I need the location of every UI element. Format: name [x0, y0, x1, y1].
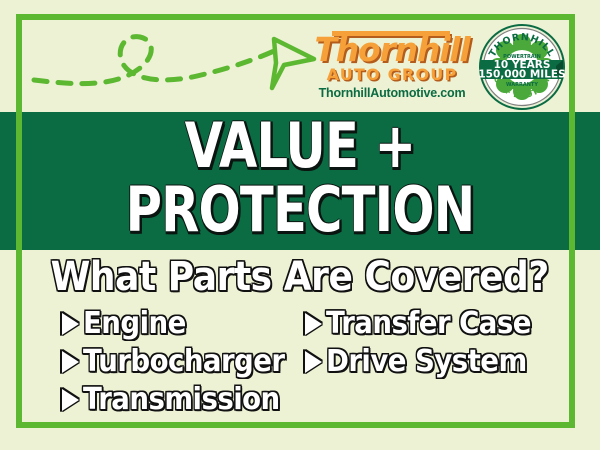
- part-label: Transfer Case: [326, 308, 531, 340]
- covered-parts-left-column: Engine Turbocharger Transmission: [62, 305, 312, 419]
- seal-warranty-word: WARRANTY: [506, 82, 538, 88]
- logo-wordmark: Thornhill: [312, 33, 472, 67]
- part-label: Drive System: [326, 346, 527, 378]
- triangle-bullet-icon: [62, 313, 79, 335]
- triangle-bullet-icon: [305, 351, 322, 373]
- covered-parts-right-column: Transfer Case Drive System: [305, 305, 555, 381]
- headline-line-2: PROTECTION: [60, 177, 540, 243]
- list-item: Turbocharger: [62, 343, 312, 381]
- triangle-bullet-icon: [62, 389, 79, 411]
- dashed-loop-arrow-icon: [22, 16, 322, 106]
- list-item: Drive System: [305, 343, 555, 381]
- part-label: Engine: [83, 308, 186, 340]
- list-item: Transfer Case: [305, 305, 555, 343]
- triangle-bullet-icon: [305, 313, 322, 335]
- subhead-question: What Parts Are Covered?: [51, 255, 549, 299]
- thornhill-logo[interactable]: Thornhill AUTO GROUP ThornhillAutomotive…: [312, 26, 472, 100]
- list-item: Transmission: [62, 381, 312, 419]
- part-label: Turbocharger: [83, 346, 284, 378]
- headline-line-1: VALUE +: [60, 114, 540, 177]
- headline: VALUE + PROTECTION: [0, 114, 600, 243]
- logo-overbar: [332, 31, 450, 36]
- poster-header: Thornhill AUTO GROUP ThornhillAutomotive…: [0, 0, 600, 112]
- seal-miles: 150,000 MILES: [479, 69, 565, 81]
- subhead: What Parts Are Covered?: [0, 255, 600, 299]
- logo-website[interactable]: ThornhillAutomotive.com: [312, 86, 472, 100]
- list-item: Engine: [62, 305, 312, 343]
- warranty-seal-badge: THORNHILL VALUE + PROTECTION POWERTRAIN …: [479, 24, 565, 110]
- part-label: Transmission: [83, 384, 280, 416]
- triangle-bullet-icon: [62, 351, 79, 373]
- logo-subtitle: AUTO GROUP: [312, 66, 472, 84]
- value-protection-poster: Thornhill AUTO GROUP ThornhillAutomotive…: [0, 0, 600, 450]
